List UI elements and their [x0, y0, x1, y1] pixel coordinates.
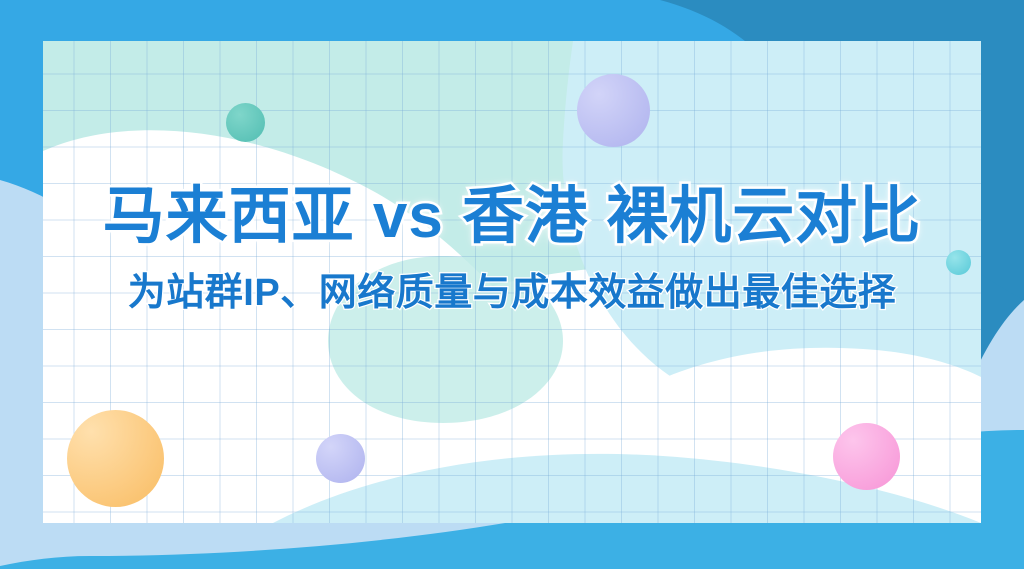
banner-graphic: 马来西亚 vs 香港 裸机云对比 为站群IP、网络质量与成本效益做出最佳选择 [0, 0, 1024, 569]
text-block: 马来西亚 vs 香港 裸机云对比 为站群IP、网络质量与成本效益做出最佳选择 [0, 186, 1024, 312]
circle-pink [833, 423, 900, 490]
circle-orange [67, 410, 164, 507]
page-subtitle: 为站群IP、网络质量与成本效益做出最佳选择 [0, 274, 1024, 312]
circle-teal [226, 103, 265, 142]
page-title: 马来西亚 vs 香港 裸机云对比 [0, 186, 1024, 248]
circle-lavender-large [577, 74, 650, 147]
circle-lavender-small [316, 434, 365, 483]
